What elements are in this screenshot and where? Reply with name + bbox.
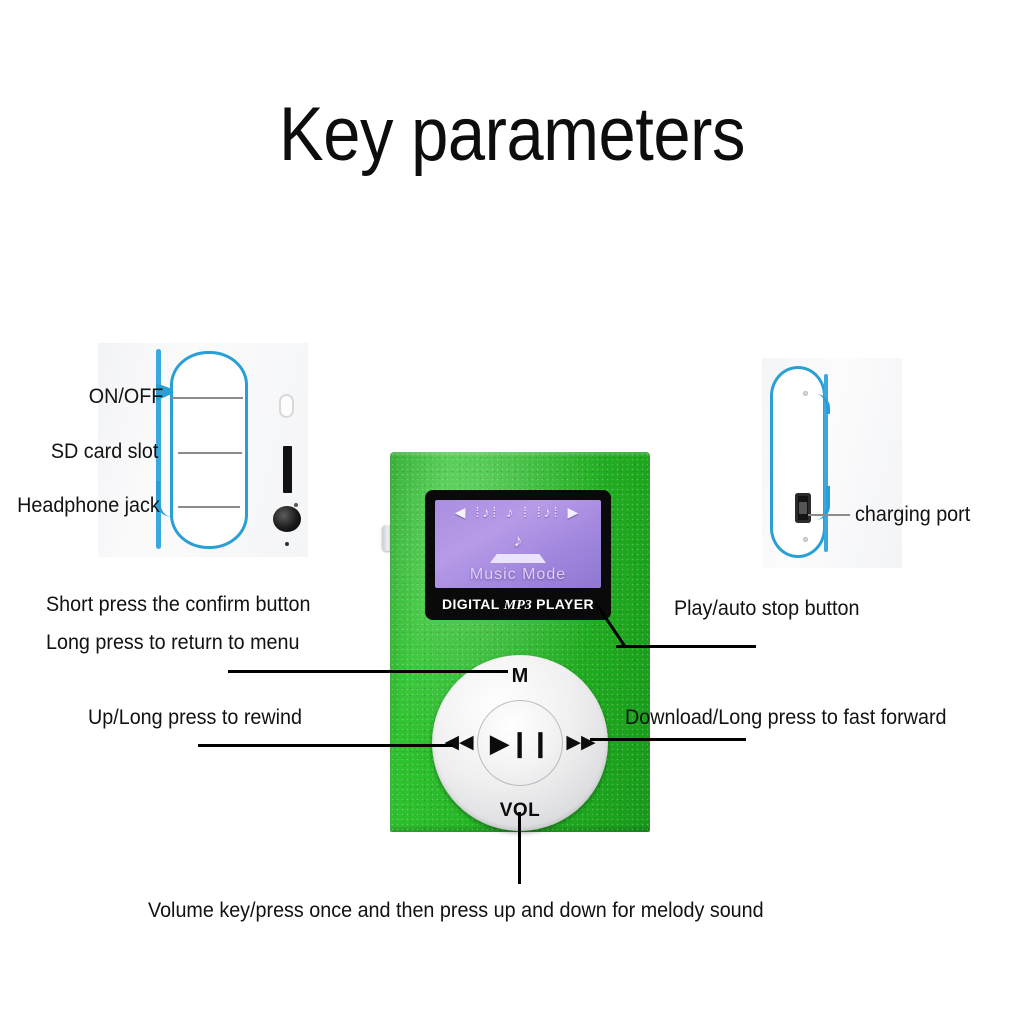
sd-card-slot-icon — [283, 446, 292, 493]
headphone-jack-icon — [273, 506, 301, 532]
leader-line-rewind — [198, 744, 453, 747]
lcd-top-icons: ◀ ⁞♪⁞ ♪ ⁞ ⁞♪⁞ ▶ — [435, 504, 601, 520]
brand-label: DIGITAL MP3 PLAYER — [425, 596, 611, 614]
screw-top-icon — [803, 391, 808, 396]
brand-prefix: DIGITAL — [442, 596, 504, 612]
screw-bottom-icon — [803, 537, 808, 542]
leader-line-volume — [518, 812, 521, 884]
screw-dot-icon — [285, 542, 289, 546]
label-confirm-button-line1: Short press the confirm button — [46, 592, 310, 618]
label-fast-forward: Download/Long press to fast forward — [625, 705, 947, 731]
leader-line-headphone-jack — [178, 506, 240, 508]
power-switch-icon — [279, 394, 294, 418]
leader-line-confirm-button — [228, 670, 508, 673]
lcd-screen: ◀ ⁞♪⁞ ♪ ⁞ ⁞♪⁞ ▶ ♪ Music Mode — [435, 500, 601, 588]
lcd-pedestal-shape — [490, 554, 546, 563]
control-wheel[interactable]: M VOL ◀◀ ▶▶ ▶❙❙ — [432, 655, 608, 831]
usb-charging-port-icon — [795, 493, 811, 523]
device-shell-left — [170, 351, 248, 549]
label-headphone-jack: Headphone jack — [17, 493, 160, 519]
brand-suffix: PLAYER — [532, 596, 594, 612]
right-back-view-photo — [762, 358, 902, 568]
lcd-music-note-icon: ♪ — [435, 532, 601, 550]
label-sd-card-slot: SD card slot — [51, 439, 159, 465]
screen-bezel: ◀ ⁞♪⁞ ♪ ⁞ ⁞♪⁞ ▶ ♪ Music Mode DIGITAL MP3… — [425, 490, 611, 620]
leader-line-play-horizontal — [616, 645, 756, 648]
label-on-off: ON/OFF — [89, 384, 164, 410]
page-title: Key parameters — [61, 92, 962, 178]
play-pause-icon: ▶❙❙ — [477, 730, 563, 756]
label-volume: Volume key/press once and then press up … — [148, 898, 764, 924]
play-pause-button[interactable]: ▶❙❙ — [477, 700, 563, 786]
edge-dot-icon — [294, 503, 298, 507]
leader-line-charging-port — [808, 514, 850, 516]
leader-line-fast-forward — [590, 738, 746, 741]
leader-line-sd-card-slot — [178, 452, 242, 454]
label-rewind: Up/Long press to rewind — [88, 705, 302, 731]
leader-line-on-off — [171, 397, 243, 399]
previous-track-icon[interactable]: ◀◀ — [442, 732, 476, 754]
label-charging-port: charging port — [855, 502, 970, 528]
label-confirm-button-line2: Long press to return to menu — [46, 630, 299, 656]
menu-button[interactable]: M — [432, 665, 608, 687]
lcd-mode-text: Music Mode — [435, 566, 601, 584]
key-parameters-diagram: Key parameters ON/OFF SD card slot Headp… — [0, 0, 1024, 1024]
label-play-auto-stop: Play/auto stop button — [674, 596, 859, 622]
brand-mp3: MP3 — [504, 598, 532, 613]
next-track-icon[interactable]: ▶▶ — [564, 732, 598, 754]
